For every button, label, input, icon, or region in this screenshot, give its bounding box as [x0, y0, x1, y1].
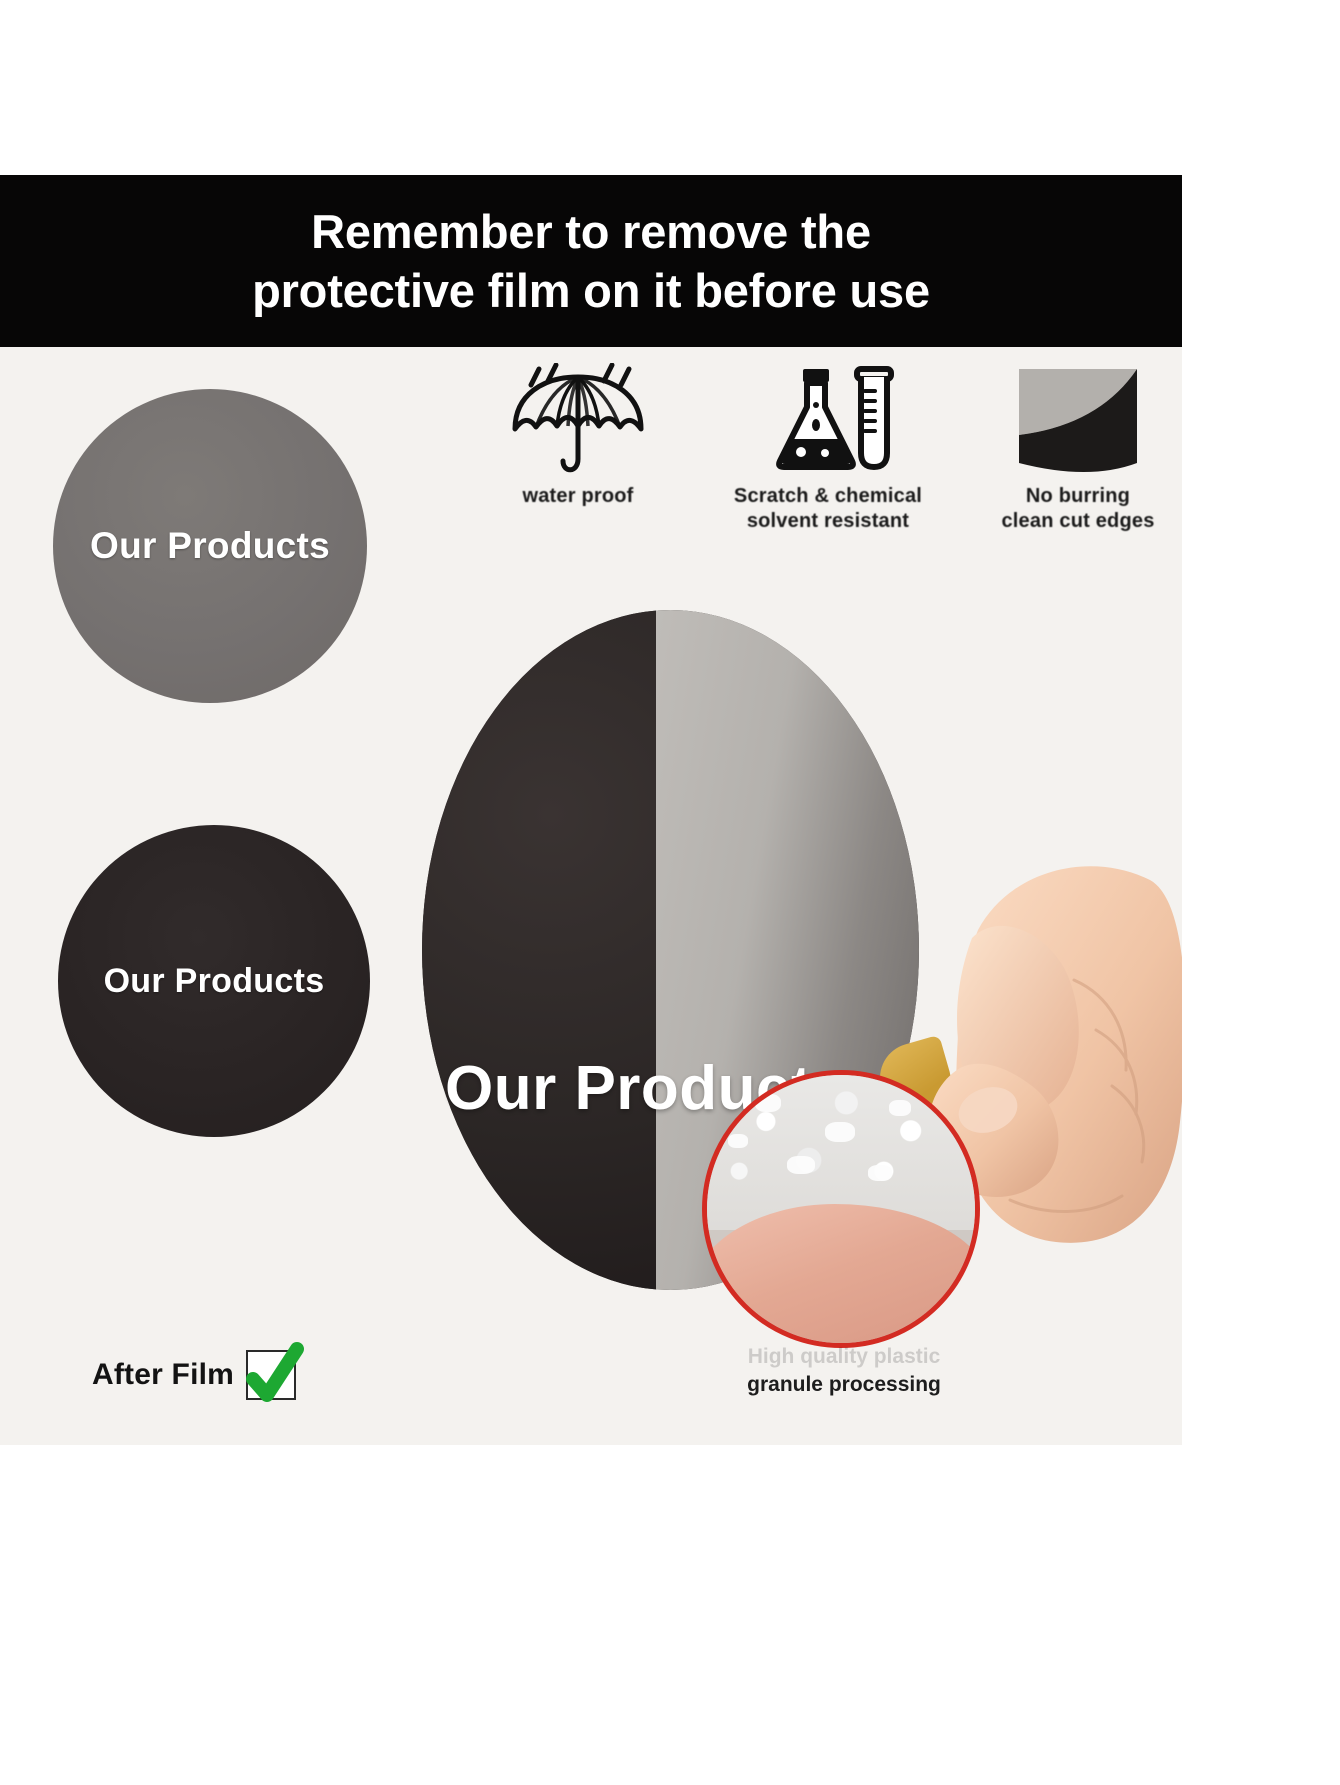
before-circle-label: Our Products — [90, 525, 330, 567]
after-circle-label: Our Products — [104, 962, 325, 1001]
granule-hand — [702, 1204, 980, 1348]
caption-line-1: No burring — [1026, 485, 1130, 507]
disc-product-surface — [422, 610, 656, 1290]
flask-test-tube-icon — [753, 360, 903, 478]
feature-strip: water proof — [478, 360, 1178, 560]
headline-banner: Remember to remove the protective film o… — [0, 175, 1182, 347]
infographic-card: Remember to remove the protective film o… — [0, 175, 1182, 1445]
feature-waterproof: water proof — [478, 360, 678, 509]
after-film-mark-row: After Film — [92, 1350, 296, 1400]
granule-caption-line-2: granule processing — [747, 1373, 941, 1396]
after-film-label: After Film — [92, 1358, 234, 1392]
caption-line-2: clean cut edges — [1001, 510, 1154, 532]
headline-line-1: Remember to remove the — [311, 203, 871, 260]
green-check-icon — [239, 1341, 305, 1411]
caption-line-1: water proof — [522, 485, 633, 507]
peeling-film-sheet-icon — [1003, 360, 1153, 478]
headline-line-2: protective film on it before use — [252, 262, 930, 319]
after-film-product-circle: Our Products — [58, 825, 370, 1137]
caption-line-1: Scratch & chemical — [734, 485, 922, 507]
caption-line-2: solvent resistant — [747, 510, 909, 532]
feature-clean-cut-edges: No burring clean cut edges — [978, 360, 1178, 534]
before-film-product-circle: Our Products — [53, 389, 367, 703]
granule-caption-line-1: High quality plastic — [748, 1345, 941, 1368]
after-film-checkbox — [246, 1350, 296, 1400]
umbrella-rain-icon — [503, 360, 653, 478]
feature-caption-waterproof: water proof — [522, 484, 633, 509]
feature-chemical-resistant: Scratch & chemical solvent resistant — [728, 360, 928, 534]
plastic-granule-inset — [702, 1070, 980, 1348]
product-infographic-page: Remember to remove the protective film o… — [0, 0, 1340, 1785]
feature-caption-chemical: Scratch & chemical solvent resistant — [734, 484, 922, 534]
feature-caption-edges: No burring clean cut edges — [1001, 484, 1154, 534]
granule-caption: High quality plastic granule processing — [714, 1343, 974, 1400]
